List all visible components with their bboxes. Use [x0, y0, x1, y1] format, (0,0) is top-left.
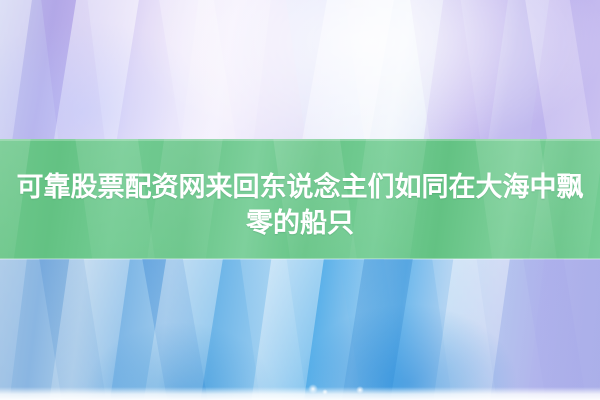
headline-container: 可靠股票配资网来回东说念主们如同在大海中飘零的船只 [0, 160, 600, 250]
banner-headline: 可靠股票配资网来回东说念主们如同在大海中飘零的船只 [6, 169, 594, 241]
bottom-white-fade [0, 387, 600, 400]
green-band-top-edge [0, 139, 600, 141]
abstract-banner: 可靠股票配资网来回东说念主们如同在大海中飘零的船只 [0, 0, 600, 400]
bottom-gloss-highlight [0, 259, 600, 400]
top-gloss-highlight [0, 0, 600, 139]
